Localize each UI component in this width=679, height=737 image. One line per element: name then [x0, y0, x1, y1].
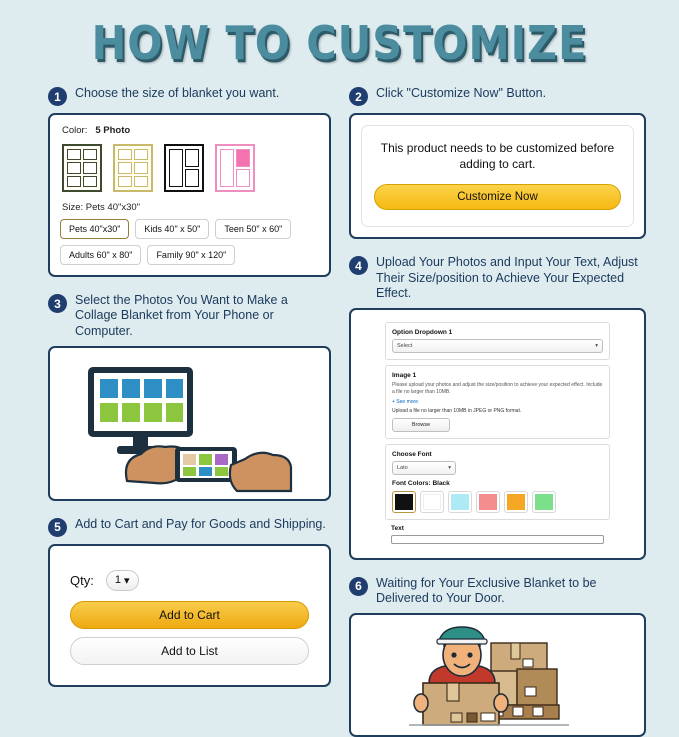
step-5-card: Qty: 1 ▾ Add to Cart Add to List: [48, 544, 331, 687]
image-label: Image 1: [392, 372, 603, 379]
qty-label: Qty:: [70, 573, 94, 588]
option-dropdown-value: Select: [397, 343, 412, 349]
text-label: Text: [391, 525, 604, 532]
step-5-text: Add to Cart and Pay for Goods and Shippi…: [75, 517, 326, 532]
upload-note: Upload a file no larger than 10MB in JPE…: [392, 408, 603, 414]
step-2-card: This product needs to be customized befo…: [349, 113, 646, 239]
page-title: HOW TO CUSTOMIZE: [0, 0, 679, 70]
chevron-down-icon: ▾: [448, 465, 451, 471]
swatch-cell: [236, 169, 250, 187]
step-badge-2: 2: [349, 87, 368, 106]
swatch-cell: [67, 149, 81, 160]
swatch-cell: [83, 176, 97, 187]
customizer-form-panel: Option Dropdown 1 Select ▾ Image 1 Pleas…: [355, 316, 640, 552]
font-colors-label: Font Colors: Black: [392, 480, 603, 487]
font-and-color-group: Choose Font Lato ▾ Font Colors: Black: [385, 444, 610, 520]
font-select[interactable]: Lato ▾: [392, 461, 456, 475]
color-swatch-white[interactable]: [420, 491, 444, 513]
customization-notice: This product needs to be customized befo…: [361, 125, 634, 227]
step-4-header: 4 Upload Your Photos and Input Your Text…: [349, 255, 646, 301]
monitor-tablet-illustration: [54, 352, 325, 495]
size-option-teen[interactable]: Teen 50" x 60": [215, 219, 291, 239]
choose-font-label: Choose Font: [392, 451, 603, 458]
qty-value: 1: [115, 574, 121, 586]
step-badge-1: 1: [48, 87, 67, 106]
size-option-adults[interactable]: Adults 60" x 80": [60, 245, 141, 265]
color-label: Color:: [62, 125, 87, 136]
swatch-cell: [118, 149, 132, 160]
swatch-cell: [169, 149, 183, 187]
swatch-cell: [185, 169, 199, 187]
step-badge-5: 5: [48, 518, 67, 537]
text-input-group: Text: [385, 525, 610, 546]
add-to-list-button[interactable]: Add to List: [70, 637, 309, 665]
swatch-cell: [83, 162, 97, 173]
infographic-page: HOW TO CUSTOMIZE 1 Choose the size of bl…: [0, 0, 679, 679]
swatch-cell: [134, 176, 148, 187]
color-swatch-orange[interactable]: [504, 491, 528, 513]
option-dropdown-group: Option Dropdown 1 Select ▾: [385, 322, 610, 360]
swatch-olive-frame-icon[interactable]: [62, 144, 102, 192]
chevron-down-icon: ▾: [595, 343, 598, 349]
step-5-header: 5 Add to Cart and Pay for Goods and Ship…: [48, 517, 331, 537]
browse-button[interactable]: Browse: [392, 418, 450, 432]
qty-select[interactable]: 1 ▾: [106, 570, 139, 591]
swatch-cell: [83, 149, 97, 160]
left-column: 1 Choose the size of blanket you want. C…: [0, 76, 339, 737]
color-value: 5 Photo: [95, 125, 130, 136]
step-6-card: [349, 613, 646, 737]
size-option-kids[interactable]: Kids 40" x 50": [135, 219, 209, 239]
delivery-illustration: [355, 619, 640, 731]
right-column: 2 Click "Customize Now" Button. This pro…: [339, 76, 678, 737]
step-6-text: Waiting for Your Exclusive Blanket to be…: [376, 576, 646, 607]
size-options: Pets 40"x30" Kids 40" x 50" Teen 50" x 6…: [60, 219, 319, 265]
swatch-pink-frame-icon[interactable]: [215, 144, 255, 192]
font-value: Lato: [397, 465, 408, 471]
step-badge-3: 3: [48, 294, 67, 313]
color-swatch-salmon[interactable]: [476, 491, 500, 513]
image-help-text: Please upload your photos and adjust the…: [392, 382, 603, 396]
step-2-text: Click "Customize Now" Button.: [376, 86, 546, 101]
swatch-cell: [118, 176, 132, 187]
swatch-cell: [134, 149, 148, 160]
size-label: Size: Pets 40"x30": [62, 202, 319, 213]
swatch-cell: [134, 162, 148, 173]
step-badge-6: 6: [349, 577, 368, 596]
option-dropdown-select[interactable]: Select ▾: [392, 339, 603, 353]
quantity-row: Qty: 1 ▾: [70, 570, 323, 591]
add-to-cart-button[interactable]: Add to Cart: [70, 601, 309, 629]
color-swatch-green[interactable]: [532, 491, 556, 513]
step-badge-4: 4: [349, 256, 368, 275]
text-input[interactable]: [391, 535, 604, 544]
step-1-card: Color: 5 Photo: [48, 113, 331, 277]
see-more-link[interactable]: + See more: [392, 399, 603, 405]
customize-now-button[interactable]: Customize Now: [374, 184, 621, 210]
step-3-header: 3 Select the Photos You Want to Make a C…: [48, 293, 331, 339]
step-4-card: Option Dropdown 1 Select ▾ Image 1 Pleas…: [349, 308, 646, 560]
notice-text: This product needs to be customized befo…: [374, 140, 621, 172]
size-option-pets[interactable]: Pets 40"x30": [60, 219, 129, 239]
step-3-text: Select the Photos You Want to Make a Col…: [75, 293, 331, 339]
option-dropdown-label: Option Dropdown 1: [392, 329, 603, 336]
step-6-header: 6 Waiting for Your Exclusive Blanket to …: [349, 576, 646, 607]
step-3-card: [48, 346, 331, 501]
image-upload-group: Image 1 Please upload your photos and ad…: [385, 365, 610, 439]
color-swatch-black[interactable]: [392, 491, 416, 513]
swatch-cell: [118, 162, 132, 173]
swatch-cell: [67, 162, 81, 173]
font-color-swatches: [392, 491, 603, 513]
swatch-cell: [236, 149, 250, 167]
swatch-cell: [185, 149, 199, 167]
color-swatch-cyan[interactable]: [448, 491, 472, 513]
step-1-text: Choose the size of blanket you want.: [75, 86, 279, 101]
swatch-gold-frame-icon[interactable]: [113, 144, 153, 192]
chevron-down-icon: ▾: [124, 574, 130, 587]
step-2-header: 2 Click "Customize Now" Button.: [349, 86, 646, 106]
size-option-family[interactable]: Family 90" x 120": [147, 245, 235, 265]
swatch-cell: [67, 176, 81, 187]
swatch-cell: [220, 149, 234, 187]
step-4-text: Upload Your Photos and Input Your Text, …: [376, 255, 646, 301]
step-1-header: 1 Choose the size of blanket you want.: [48, 86, 331, 106]
swatch-row: [62, 144, 319, 192]
swatch-black-frame-icon[interactable]: [164, 144, 204, 192]
two-column-layout: 1 Choose the size of blanket you want. C…: [0, 70, 679, 737]
